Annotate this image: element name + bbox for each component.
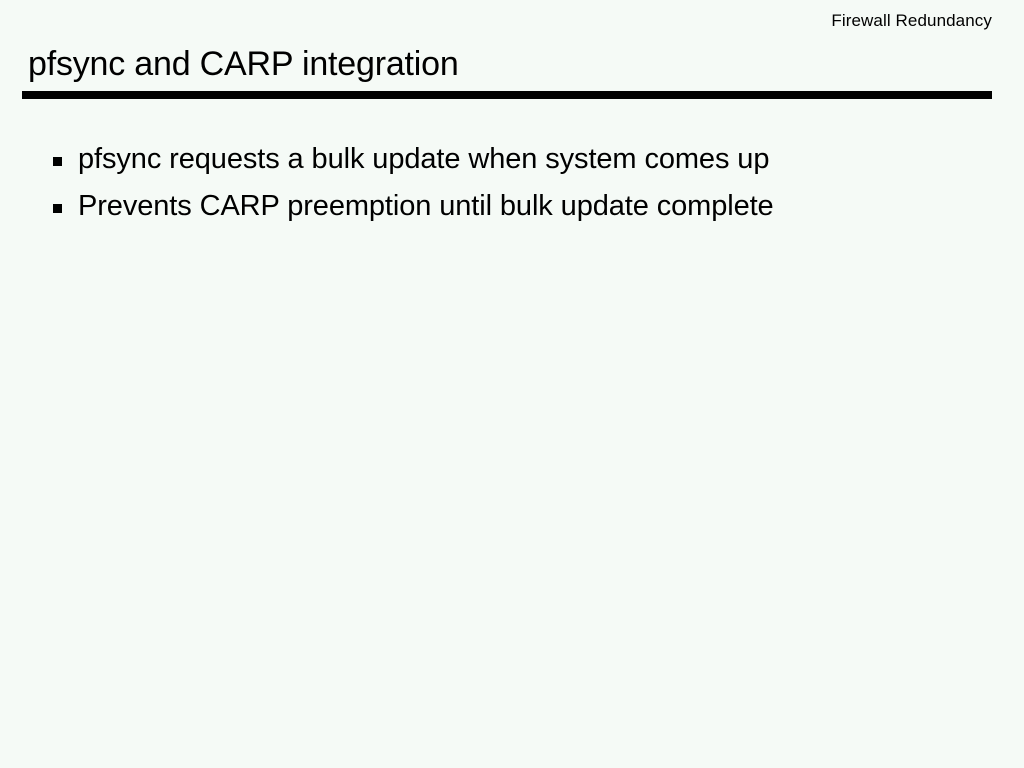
slide-title: pfsync and CARP integration bbox=[28, 44, 459, 84]
title-divider-rule bbox=[22, 91, 992, 99]
list-item-label: pfsync requests a bulk update when syste… bbox=[78, 136, 769, 183]
list-item: pfsync requests a bulk update when syste… bbox=[48, 136, 988, 183]
slide-header-label: Firewall Redundancy bbox=[831, 11, 992, 31]
list-item: Prevents CARP preemption until bulk upda… bbox=[48, 183, 988, 230]
square-bullet-icon bbox=[53, 157, 62, 166]
presentation-slide: Firewall Redundancy pfsync and CARP inte… bbox=[0, 0, 1024, 768]
slide-content-area bbox=[0, 240, 1024, 768]
slide-bullet-list: pfsync requests a bulk update when syste… bbox=[48, 136, 988, 230]
list-item-label: Prevents CARP preemption until bulk upda… bbox=[78, 183, 774, 230]
square-bullet-icon bbox=[53, 204, 62, 213]
